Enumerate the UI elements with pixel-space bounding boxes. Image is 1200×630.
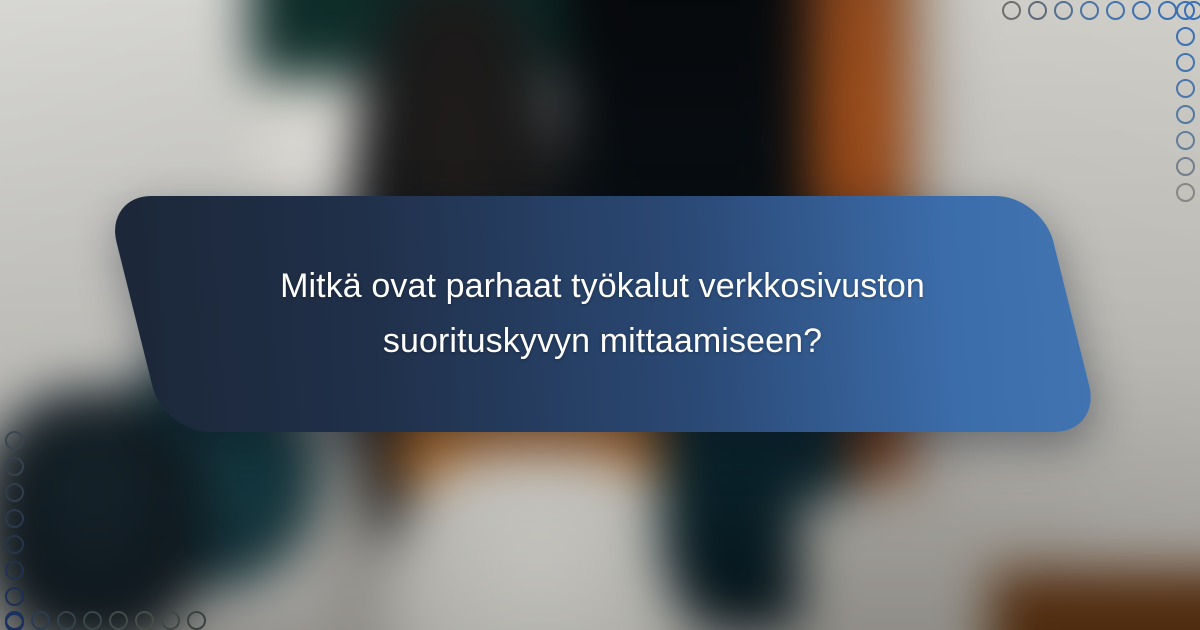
decor-ring bbox=[1028, 1, 1047, 20]
decor-ring bbox=[1002, 1, 1021, 20]
decor-ring bbox=[161, 611, 180, 630]
decor-ring bbox=[1176, 183, 1195, 202]
decor-ring bbox=[1054, 1, 1073, 20]
decor-ring bbox=[5, 509, 24, 528]
bg-wood-floor bbox=[990, 570, 1200, 630]
decor-ring bbox=[5, 561, 24, 580]
headline-card: Mitkä ovat parhaat työkalut verkkosivust… bbox=[105, 196, 1100, 432]
decor-ring bbox=[1106, 1, 1125, 20]
decor-ring bbox=[1080, 1, 1099, 20]
decor-ring bbox=[5, 457, 24, 476]
decor-ring bbox=[135, 611, 154, 630]
decor-ring bbox=[187, 611, 206, 630]
decor-ring bbox=[109, 611, 128, 630]
bg-garment bbox=[390, 450, 690, 630]
decor-ring bbox=[5, 431, 24, 450]
decor-ring bbox=[1176, 105, 1195, 124]
decor-ring bbox=[5, 535, 24, 554]
decor-ring bbox=[1176, 131, 1195, 150]
decor-ring bbox=[1158, 1, 1177, 20]
decor-ring bbox=[1176, 157, 1195, 176]
decor-ring bbox=[5, 587, 24, 606]
decor-ring bbox=[1176, 1, 1195, 20]
page-title: Mitkä ovat parhaat työkalut verkkosivust… bbox=[233, 259, 973, 369]
decor-ring bbox=[57, 611, 76, 630]
decor-ring bbox=[1176, 79, 1195, 98]
decor-ring bbox=[1176, 27, 1195, 46]
decor-ring bbox=[5, 483, 24, 502]
decor-ring bbox=[1132, 1, 1151, 20]
decor-ring bbox=[83, 611, 102, 630]
decor-ring bbox=[31, 611, 50, 630]
social-card-canvas: Mitkä ovat parhaat työkalut verkkosivust… bbox=[0, 0, 1200, 630]
decor-ring bbox=[5, 611, 24, 630]
decor-ring bbox=[1176, 53, 1195, 72]
headline-card-content: Mitkä ovat parhaat työkalut verkkosivust… bbox=[105, 196, 1100, 432]
